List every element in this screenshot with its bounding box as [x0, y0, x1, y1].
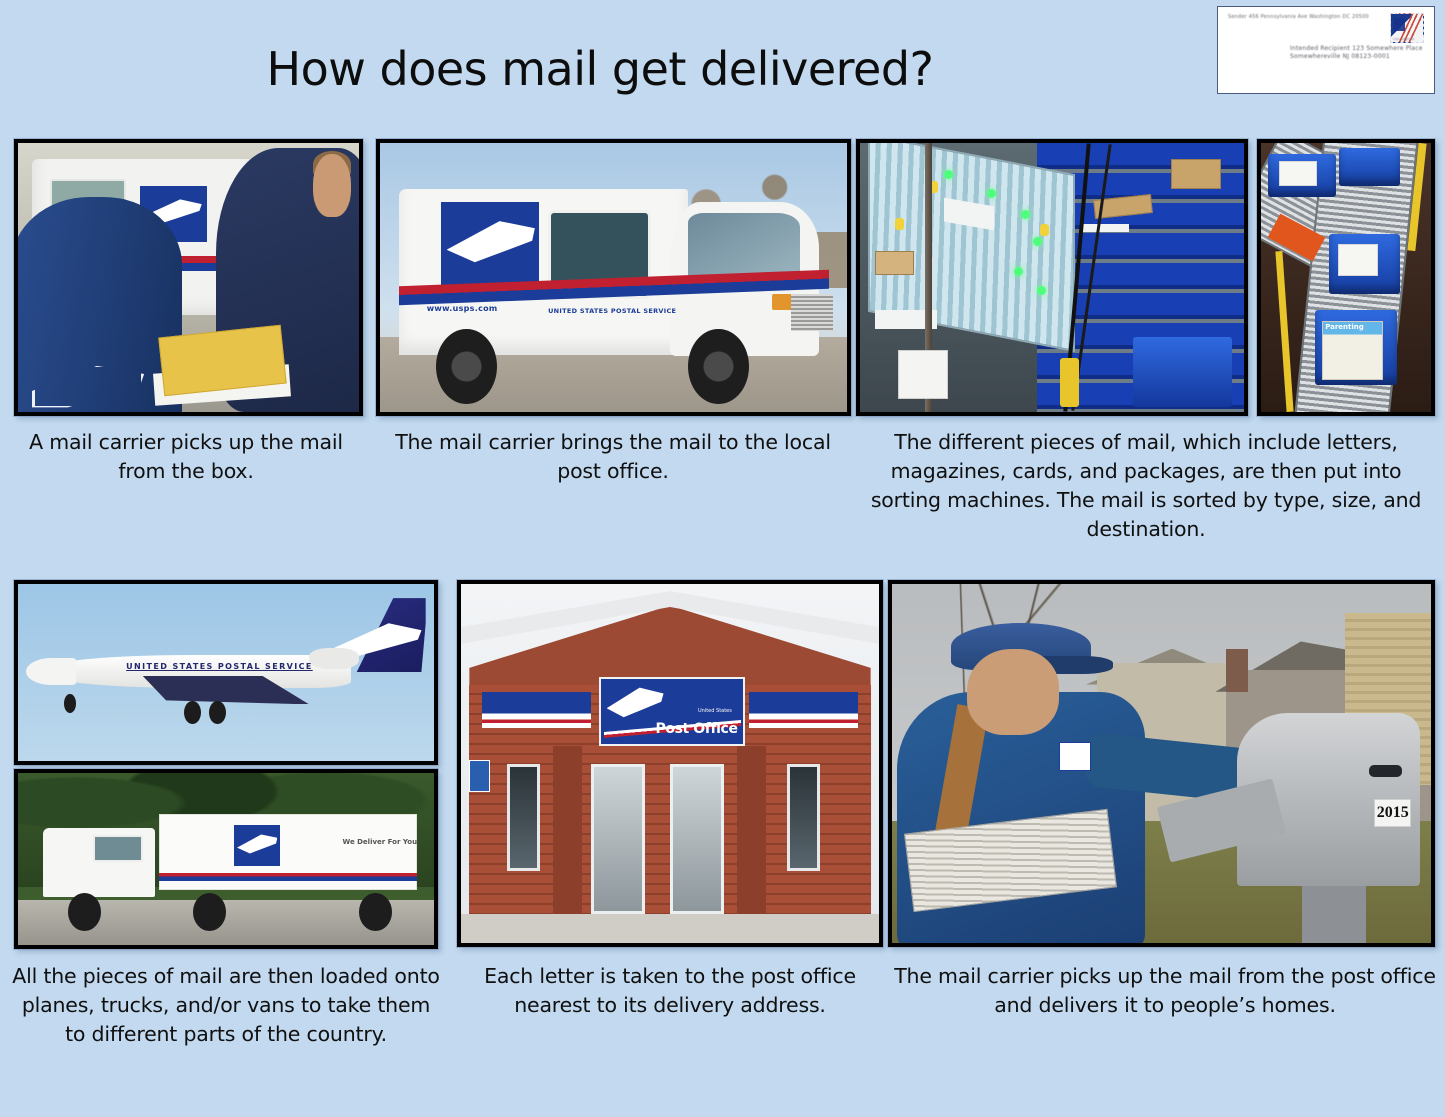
step-4-caption: All the pieces of mail are then loaded o… [10, 962, 442, 1049]
magazine-title: Parenting [1325, 323, 1364, 331]
accessibility-sign-icon [469, 760, 490, 792]
envelope-sender-address: Sender 456 Pennsylvania Ave Washington D… [1228, 14, 1369, 20]
usps-llv-mail-truck-photo: www.usps.com UNITED STATES POSTAL SERVIC… [376, 139, 851, 416]
usps-eagle-logo-icon [32, 364, 145, 409]
truck-url-text: www.usps.com [427, 304, 498, 313]
usps-eagle-logo-icon [1059, 742, 1091, 771]
mail-sorting-facility-photo [856, 139, 1248, 416]
stamp-caption: USA FOREVER [1393, 37, 1414, 41]
mail-carrier-at-collection-box-photo [14, 139, 363, 416]
sign-post-office-text: Post Office [655, 721, 737, 737]
truck-slogan-text: We Deliver For You [342, 838, 417, 846]
step-3-caption: The different pieces of mail, which incl… [860, 428, 1432, 544]
truck-marking-text: UNITED STATES POSTAL SERVICE [548, 307, 676, 315]
usps-eagle-logo-icon [441, 202, 539, 288]
step-1-caption: A mail carrier picks up the mail from th… [10, 428, 362, 486]
scene-semi-truck: We Deliver For You [18, 773, 434, 945]
scene-cargo-plane: UNITED STATES POSTAL SERVICE [18, 584, 434, 761]
page-title: How does mail get delivered? [0, 42, 1200, 96]
usps-eagle-logo-icon [607, 687, 664, 719]
usps-eagle-logo-icon [234, 825, 280, 866]
sign-united-states-text: United States [698, 708, 732, 714]
carrier-delivering-to-home-mailbox-photo: 2015 [888, 580, 1435, 947]
usps-cargo-airplane-photo: UNITED STATES POSTAL SERVICE [14, 580, 438, 765]
scene-post-office: United States Post Office [461, 584, 879, 943]
mail-delivery-poster: How does mail get delivered? Sender 456 … [0, 0, 1445, 1117]
scene-sorting-machines [860, 143, 1244, 412]
scene-mail-truck: www.usps.com UNITED STATES POSTAL SERVIC… [380, 143, 847, 412]
mailbox-house-number: 2015 [1374, 799, 1411, 827]
envelope-recipient-address: Intended Recipient 123 Somewhere Place S… [1290, 45, 1434, 60]
scene-roller-conveyor: Parenting [1261, 143, 1431, 412]
us-flag-stamp-icon: USA FOREVER [1390, 13, 1424, 43]
addressed-envelope: Sender 456 Pennsylvania Ave Washington D… [1217, 6, 1435, 94]
step-2-caption: The mail carrier brings the mail to the … [372, 428, 854, 486]
post-office-sign: United States Post Office [599, 677, 745, 745]
magazine-in-tub: Parenting [1322, 321, 1383, 380]
usps-semi-trailer-truck-photo: We Deliver For You [14, 769, 438, 949]
step-5-caption: Each letter is taken to the post office … [450, 962, 890, 1020]
mail-tubs-on-roller-conveyor-photo: Parenting [1257, 139, 1435, 416]
scene-home-delivery: 2015 [892, 584, 1431, 943]
scene-collection-box [18, 143, 359, 412]
post-office-building-photo: United States Post Office [457, 580, 883, 947]
plane-marking-text: UNITED STATES POSTAL SERVICE [126, 662, 313, 671]
step-6-caption: The mail carrier picks up the mail from … [894, 962, 1436, 1020]
